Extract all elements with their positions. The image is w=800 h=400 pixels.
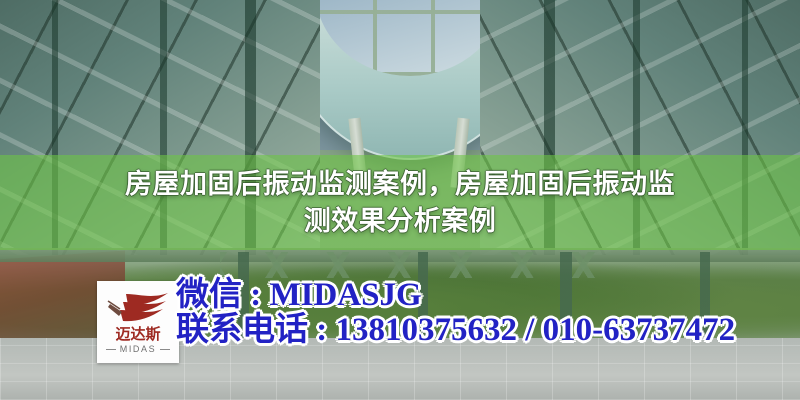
midas-logo: 迈达斯 MIDAS: [97, 281, 179, 363]
contact-overlay: 微信 : MIDASJG 联系电话 : 13810375632 / 010-63…: [176, 278, 735, 348]
logo-wordmark: MIDAS: [106, 345, 171, 354]
logo-rule-right: [160, 349, 170, 350]
phone-contact: 联系电话 : 13810375632 / 010-63737472: [176, 313, 735, 348]
midas-wing-icon: [106, 291, 170, 325]
logo-english-name: MIDAS: [120, 345, 157, 354]
title-line-2: 测效果分析案例: [304, 204, 497, 239]
promo-banner: 房屋加固后振动监测案例，房屋加固后振动监 测效果分析案例 迈达斯 MIDAS 微…: [0, 0, 800, 400]
logo-rule-left: [106, 349, 116, 350]
wechat-contact: 微信 : MIDASJG: [176, 278, 735, 313]
title-line-1: 房屋加固后振动监测案例，房屋加固后振动监: [125, 167, 675, 202]
logo-chinese-name: 迈达斯: [115, 327, 160, 342]
page-title: 房屋加固后振动监测案例，房屋加固后振动监 测效果分析案例: [0, 155, 800, 250]
